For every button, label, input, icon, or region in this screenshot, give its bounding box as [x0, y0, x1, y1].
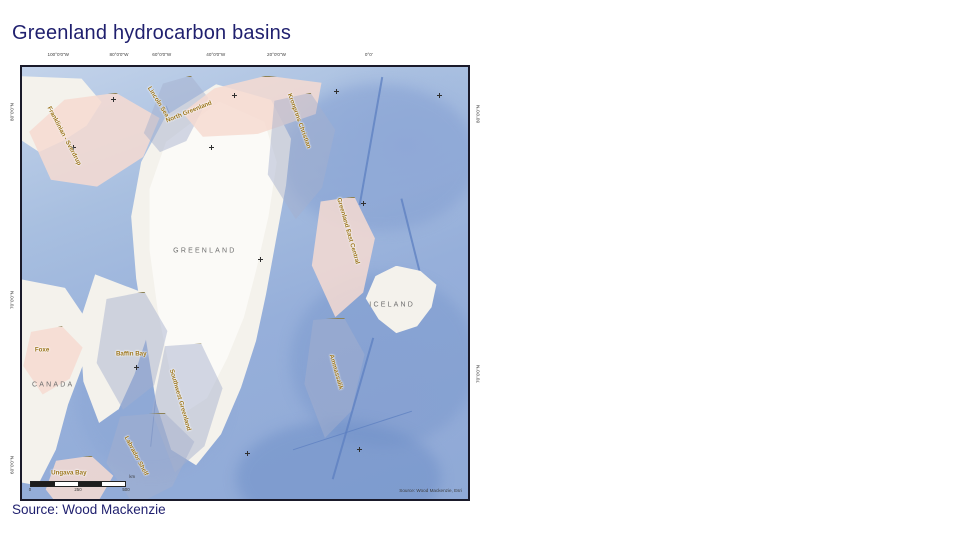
- scale-tick-0: 0: [29, 487, 31, 492]
- map-scale-bar: 0250500 km: [30, 481, 126, 494]
- country-label-iceland: ICELAND: [369, 301, 415, 308]
- graticule-cross: [232, 93, 237, 98]
- map-source-note: Source: Wood Mackenzie, Esri: [399, 488, 462, 493]
- country-label-canada: CANADA: [32, 381, 74, 388]
- basin-label-foxe: Foxe: [35, 346, 49, 353]
- page-title: Greenland hydrocarbon basins: [12, 22, 291, 45]
- graticule-cross: [334, 89, 339, 94]
- axis-top-label-2: 60°0'0"W: [152, 52, 171, 57]
- map-axis-top: 100°0'0"W80°0'0"W60°0'0"W40°0'0"W20°0'0"…: [20, 52, 470, 64]
- graticule-cross: [209, 145, 214, 150]
- axis-left-label-1: 70°0'0"N: [10, 291, 15, 309]
- scale-bar-ticks: 0250500: [30, 487, 126, 494]
- axis-left-label-0: 80°0'0"N: [10, 103, 15, 121]
- axis-top-label-1: 80°0'0"W: [110, 52, 129, 57]
- scale-bar-unit: km: [129, 474, 135, 479]
- map-figure: 100°0'0"W80°0'0"W60°0'0"W40°0'0"W20°0'0"…: [20, 52, 470, 500]
- axis-right-label-0: 80°0'0"N: [476, 105, 481, 123]
- graticule-cross: [361, 201, 366, 206]
- map-layers: 0250500 km Source: Wood Mackenzie, Esri …: [22, 67, 468, 499]
- axis-top-label-3: 40°0'0"W: [206, 52, 225, 57]
- slide-root: Greenland hydrocarbon basins 100°0'0"W80…: [0, 0, 960, 540]
- map-canvas[interactable]: 0250500 km Source: Wood Mackenzie, Esri …: [20, 65, 470, 501]
- map-axis-left: 80°0'0"N70°0'0"N60°0'0"N: [6, 66, 18, 500]
- axis-left-label-2: 60°0'0"N: [10, 456, 15, 474]
- scale-tick-1: 250: [74, 487, 81, 492]
- axis-top-label-0: 100°0'0"W: [48, 52, 69, 57]
- axis-top-label-5: 0°0': [365, 52, 373, 57]
- graticule-cross: [357, 447, 362, 452]
- graticule-cross: [258, 257, 263, 262]
- graticule-cross: [111, 97, 116, 102]
- map-axis-right: 80°0'0"N70°0'0"N: [472, 66, 484, 500]
- axis-top-label-4: 20°0'0"W: [267, 52, 286, 57]
- graticule-cross: [437, 93, 442, 98]
- axis-right-label-1: 70°0'0"N: [476, 365, 481, 383]
- scale-tick-2: 500: [122, 487, 129, 492]
- basin-label-ungava-bay: Ungava Bay: [51, 470, 86, 477]
- graticule-cross: [134, 365, 139, 370]
- graticule-cross: [245, 451, 250, 456]
- basin-label-baffin-bay: Baffin Bay: [116, 351, 147, 358]
- slide-caption: Source: Wood Mackenzie: [12, 502, 166, 517]
- country-label-greenland: GREENLAND: [173, 247, 236, 254]
